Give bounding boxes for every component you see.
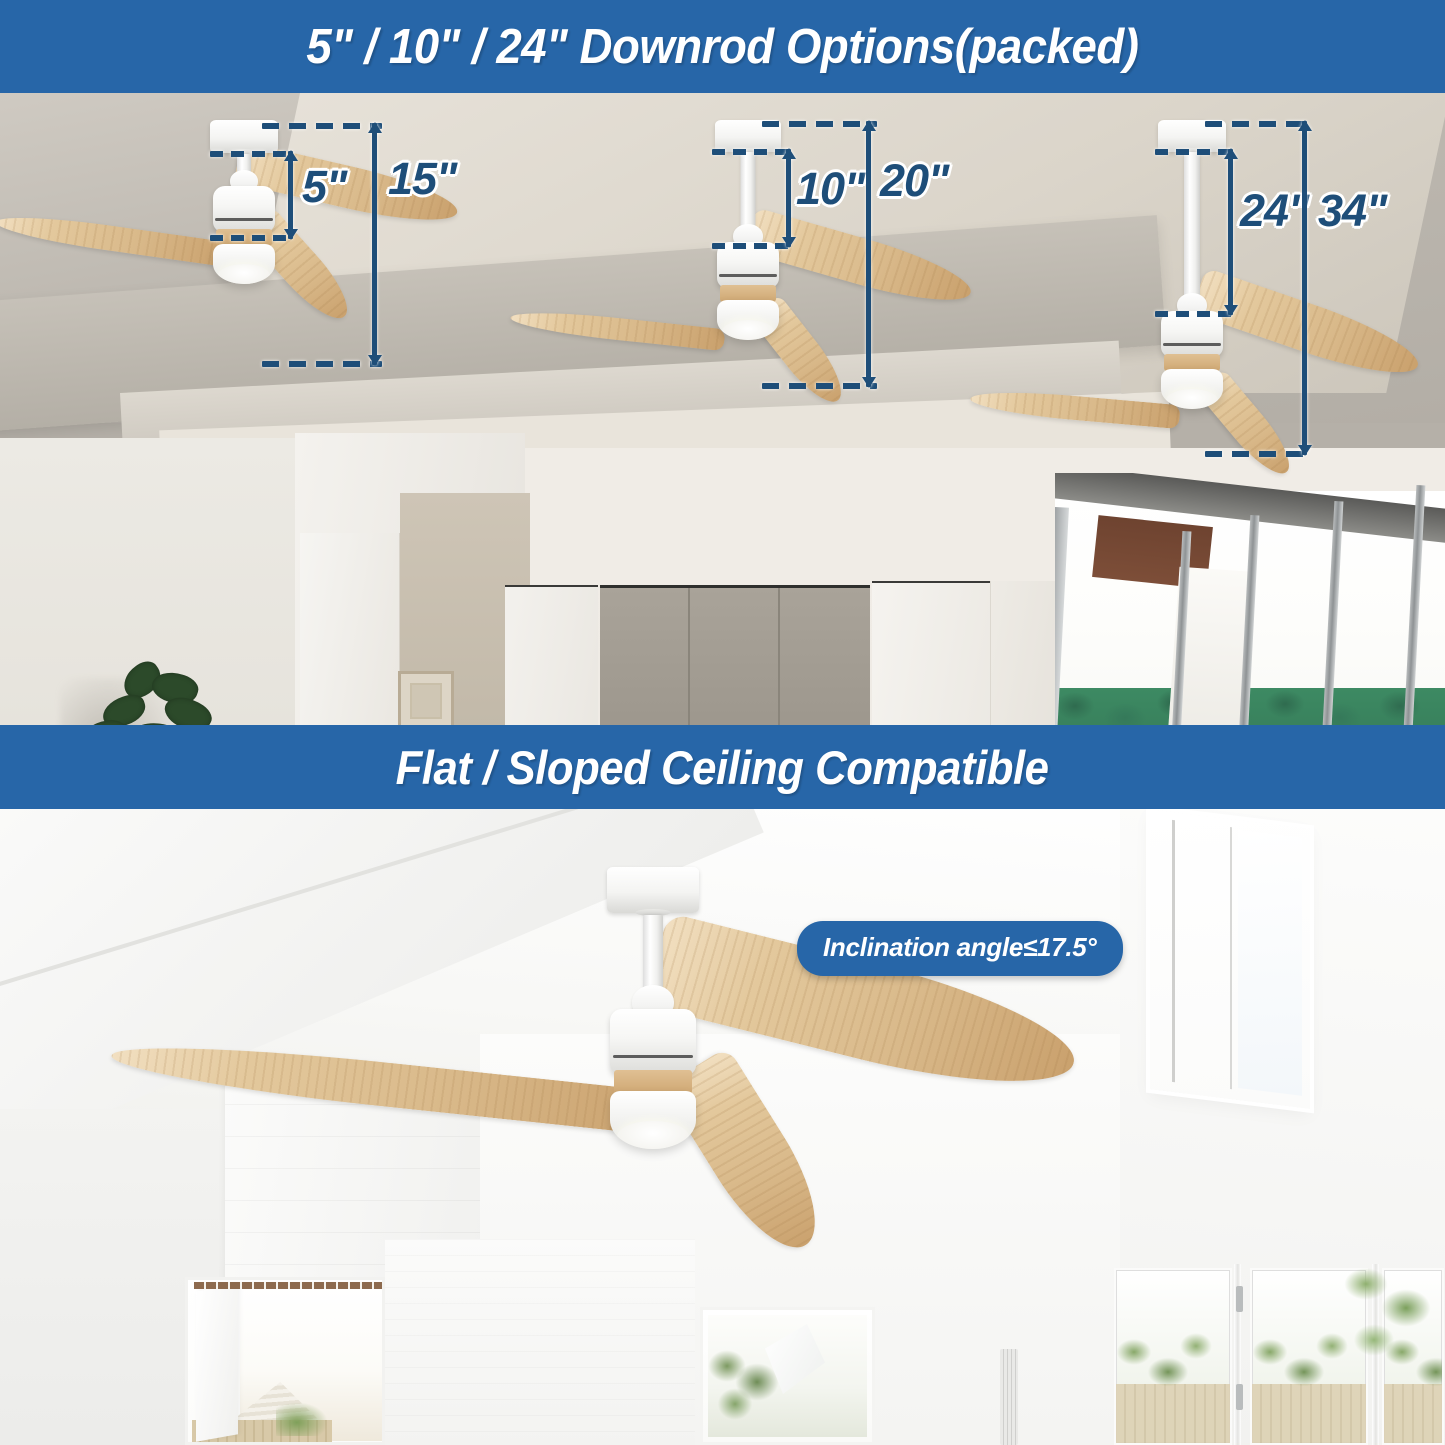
ceiling-fan-5in — [150, 108, 450, 338]
dim-total-bottom-10in — [762, 383, 877, 389]
dim-total-top-10in — [762, 121, 877, 127]
shiplap-wall-panel — [385, 1239, 695, 1445]
dim-total-line-24in — [1302, 121, 1307, 455]
window-left-open — [185, 1277, 385, 1445]
fan-downrod — [1184, 152, 1200, 302]
fan-led-light — [610, 1091, 696, 1149]
sloped-ceiling-photo — [0, 809, 1445, 1445]
dim-rod-line-10in — [786, 149, 791, 247]
kitchen-tall-cabinet-left — [505, 585, 598, 725]
dim-label-rod-10in: 10" — [796, 163, 864, 215]
ceiling-options-photo: 5" 15" 10" 20" 24" — [0, 93, 1445, 725]
dim-label-rod-5in: 5" — [302, 161, 346, 213]
dim-label-total-24in: 34" — [1318, 185, 1386, 237]
dim-rod-top-24in — [1155, 149, 1233, 155]
clerestory-window — [1150, 809, 1310, 1109]
dim-total-line-5in — [372, 123, 377, 365]
fan-led-light — [213, 244, 275, 284]
fan-downrod — [741, 152, 756, 232]
door-hinge-top — [1236, 1286, 1243, 1312]
french-door-pane-left — [1114, 1268, 1232, 1445]
dim-rod-line-24in — [1228, 149, 1233, 315]
fan-motor-housing — [213, 186, 275, 232]
dim-rod-bottom-10in — [712, 243, 790, 249]
door-hinge-bottom — [1236, 1384, 1243, 1410]
dim-label-rod-24in: 24" — [1240, 185, 1308, 237]
dim-rod-line-5in — [288, 151, 293, 239]
vertical-radiator — [1000, 1349, 1018, 1445]
outdoor-tree — [1340, 1264, 1445, 1384]
window-center — [700, 1307, 875, 1445]
kitchen-tall-cabinet-right — [872, 581, 990, 725]
fan-motor-housing — [610, 1009, 696, 1075]
fan-led-light — [1161, 369, 1223, 409]
dim-label-total-5in: 15" — [388, 153, 456, 205]
fan-downrod — [643, 915, 663, 993]
fan-blade — [1191, 268, 1426, 389]
kitchen-upper-cabinets — [600, 585, 870, 725]
fan-led-light — [717, 300, 779, 340]
top-banner-title: 5" / 10" / 24" Downrod Options(packed) — [306, 19, 1138, 75]
dim-label-total-10in: 20" — [880, 155, 948, 207]
dim-total-bottom-5in — [262, 361, 382, 367]
ceiling-fan-24in — [1100, 108, 1440, 408]
middle-banner-title: Flat / Sloped Ceiling Compatible — [396, 740, 1049, 795]
top-banner: 5" / 10" / 24" Downrod Options(packed) — [0, 0, 1445, 93]
dim-rod-bottom-24in — [1155, 311, 1233, 317]
inclination-angle-badge: Inclination angle≤17.5° — [797, 921, 1123, 976]
dim-rod-top-10in — [712, 149, 790, 155]
dim-total-top-5in — [262, 123, 382, 129]
middle-banner: Flat / Sloped Ceiling Compatible — [0, 725, 1445, 809]
door-panel — [300, 533, 400, 725]
fan-ceiling-canopy — [607, 867, 699, 913]
dim-rod-bottom-5in — [210, 235, 292, 241]
framed-artwork — [398, 671, 454, 725]
fan-motor-housing — [1161, 311, 1223, 357]
potted-plant — [78, 663, 268, 725]
dim-rod-top-5in — [210, 151, 292, 157]
ceiling-fan-10in — [655, 108, 955, 368]
sliding-glass-doors — [1055, 473, 1445, 725]
dim-total-line-10in — [866, 121, 871, 387]
